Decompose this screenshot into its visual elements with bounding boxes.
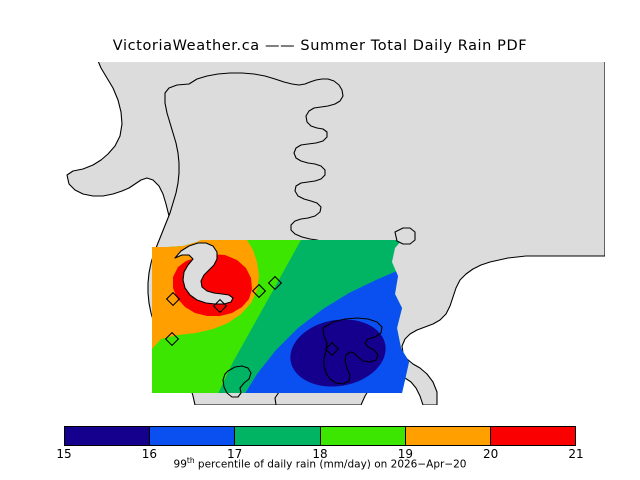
map-panel [65, 62, 605, 405]
contour-fill-layer [145, 240, 415, 400]
coast-notch-northeast [395, 228, 415, 244]
map-canvas [65, 62, 605, 405]
colorbar-caption: 99th percentile of daily rain (mm/day) o… [0, 456, 640, 471]
caption-superscript: th [187, 456, 195, 465]
page-title: VictoriaWeather.ca —— Summer Total Daily… [0, 38, 640, 54]
colorbar-band-0[interactable] [65, 427, 149, 445]
caption-prefix: 99 [174, 459, 187, 471]
colorbar-band-4[interactable] [405, 427, 490, 445]
colorbar [64, 426, 576, 446]
colorbar-band-3[interactable] [320, 427, 405, 445]
colorbar-band-1[interactable] [149, 427, 234, 445]
colorbar-shadow [2, 2, 516, 22]
colorbar-band-2[interactable] [234, 427, 319, 445]
weather-map-page: VictoriaWeather.ca —— Summer Total Daily… [0, 0, 640, 480]
colorbar-band-5[interactable] [490, 427, 575, 445]
caption-suffix: percentile of daily rain (mm/day) on 202… [195, 459, 467, 471]
